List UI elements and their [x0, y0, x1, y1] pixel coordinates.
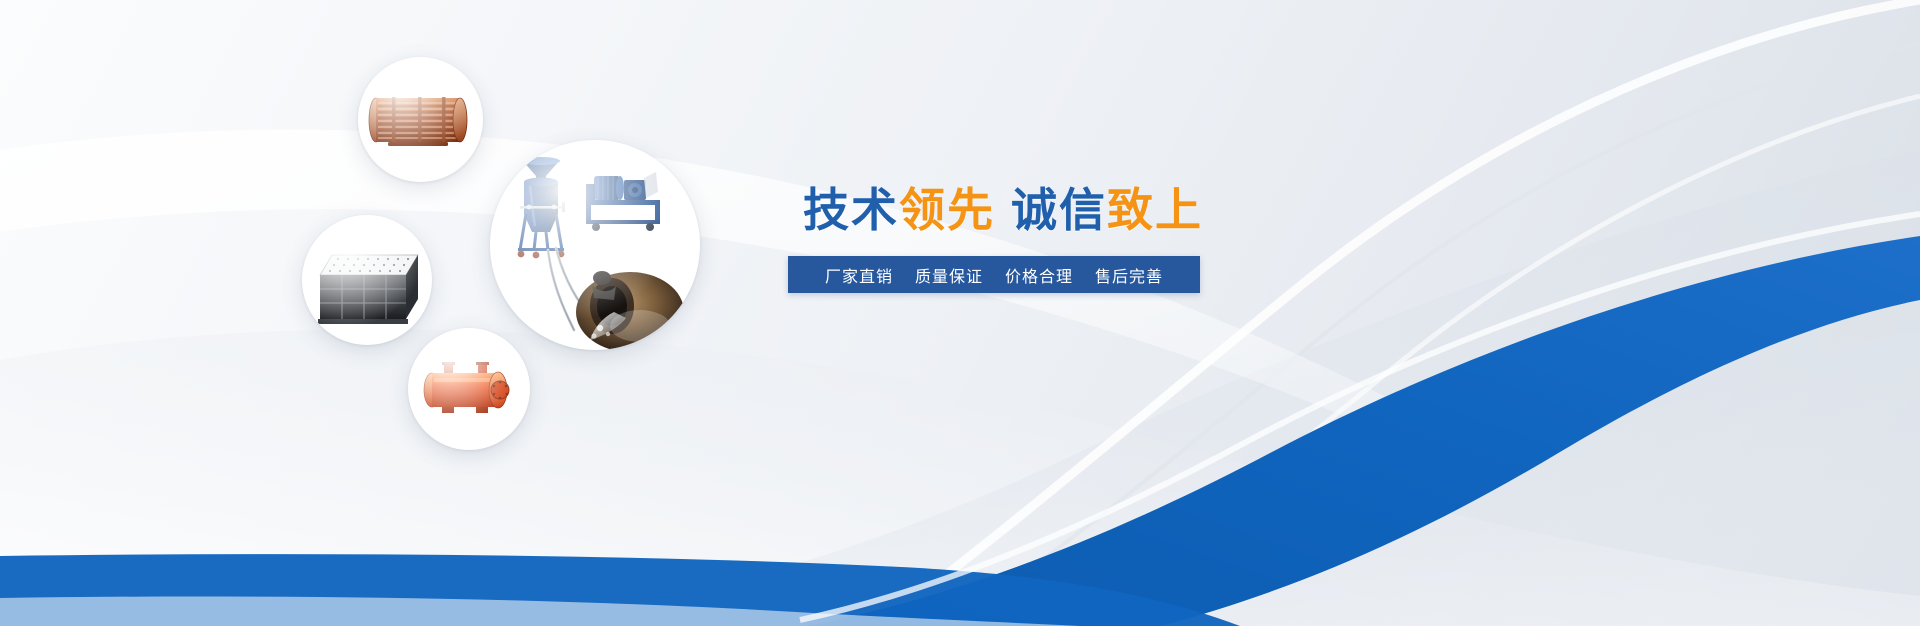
subtitle-item-1: 厂家直销	[825, 263, 893, 287]
subtitle-item-3: 价格合理	[1005, 263, 1073, 287]
product-circle-sandblasting-unit	[490, 140, 700, 350]
subtitle-item-2: 质量保证	[915, 263, 983, 287]
subtitle-bar: 厂家直销 质量保证 价格合理 售后完善	[788, 256, 1200, 293]
sandblasting-unit-icon	[490, 140, 700, 350]
product-circle-plate-heat-exchanger	[302, 215, 432, 345]
product-circle-pressure-vessel	[408, 328, 530, 450]
headline-segment-1: 技术	[803, 184, 899, 236]
promo-banner: 技术领先诚信致上 厂家直销 质量保证 价格合理 售后完善	[0, 0, 1920, 626]
headline-segment-2: 领先	[899, 184, 995, 236]
headline-segment-4: 致上	[1107, 184, 1203, 236]
subtitle-item-4: 售后完善	[1095, 263, 1163, 287]
pressure-vessel-icon	[408, 328, 530, 450]
product-circle-copper-tube-bundle	[358, 57, 483, 182]
background-decoration	[0, 0, 1920, 626]
headline: 技术领先诚信致上	[788, 186, 1218, 234]
copper-tube-bundle-icon	[358, 57, 483, 182]
plate-heat-exchanger-icon	[302, 215, 432, 345]
headline-segment-3: 诚信	[1011, 184, 1107, 236]
